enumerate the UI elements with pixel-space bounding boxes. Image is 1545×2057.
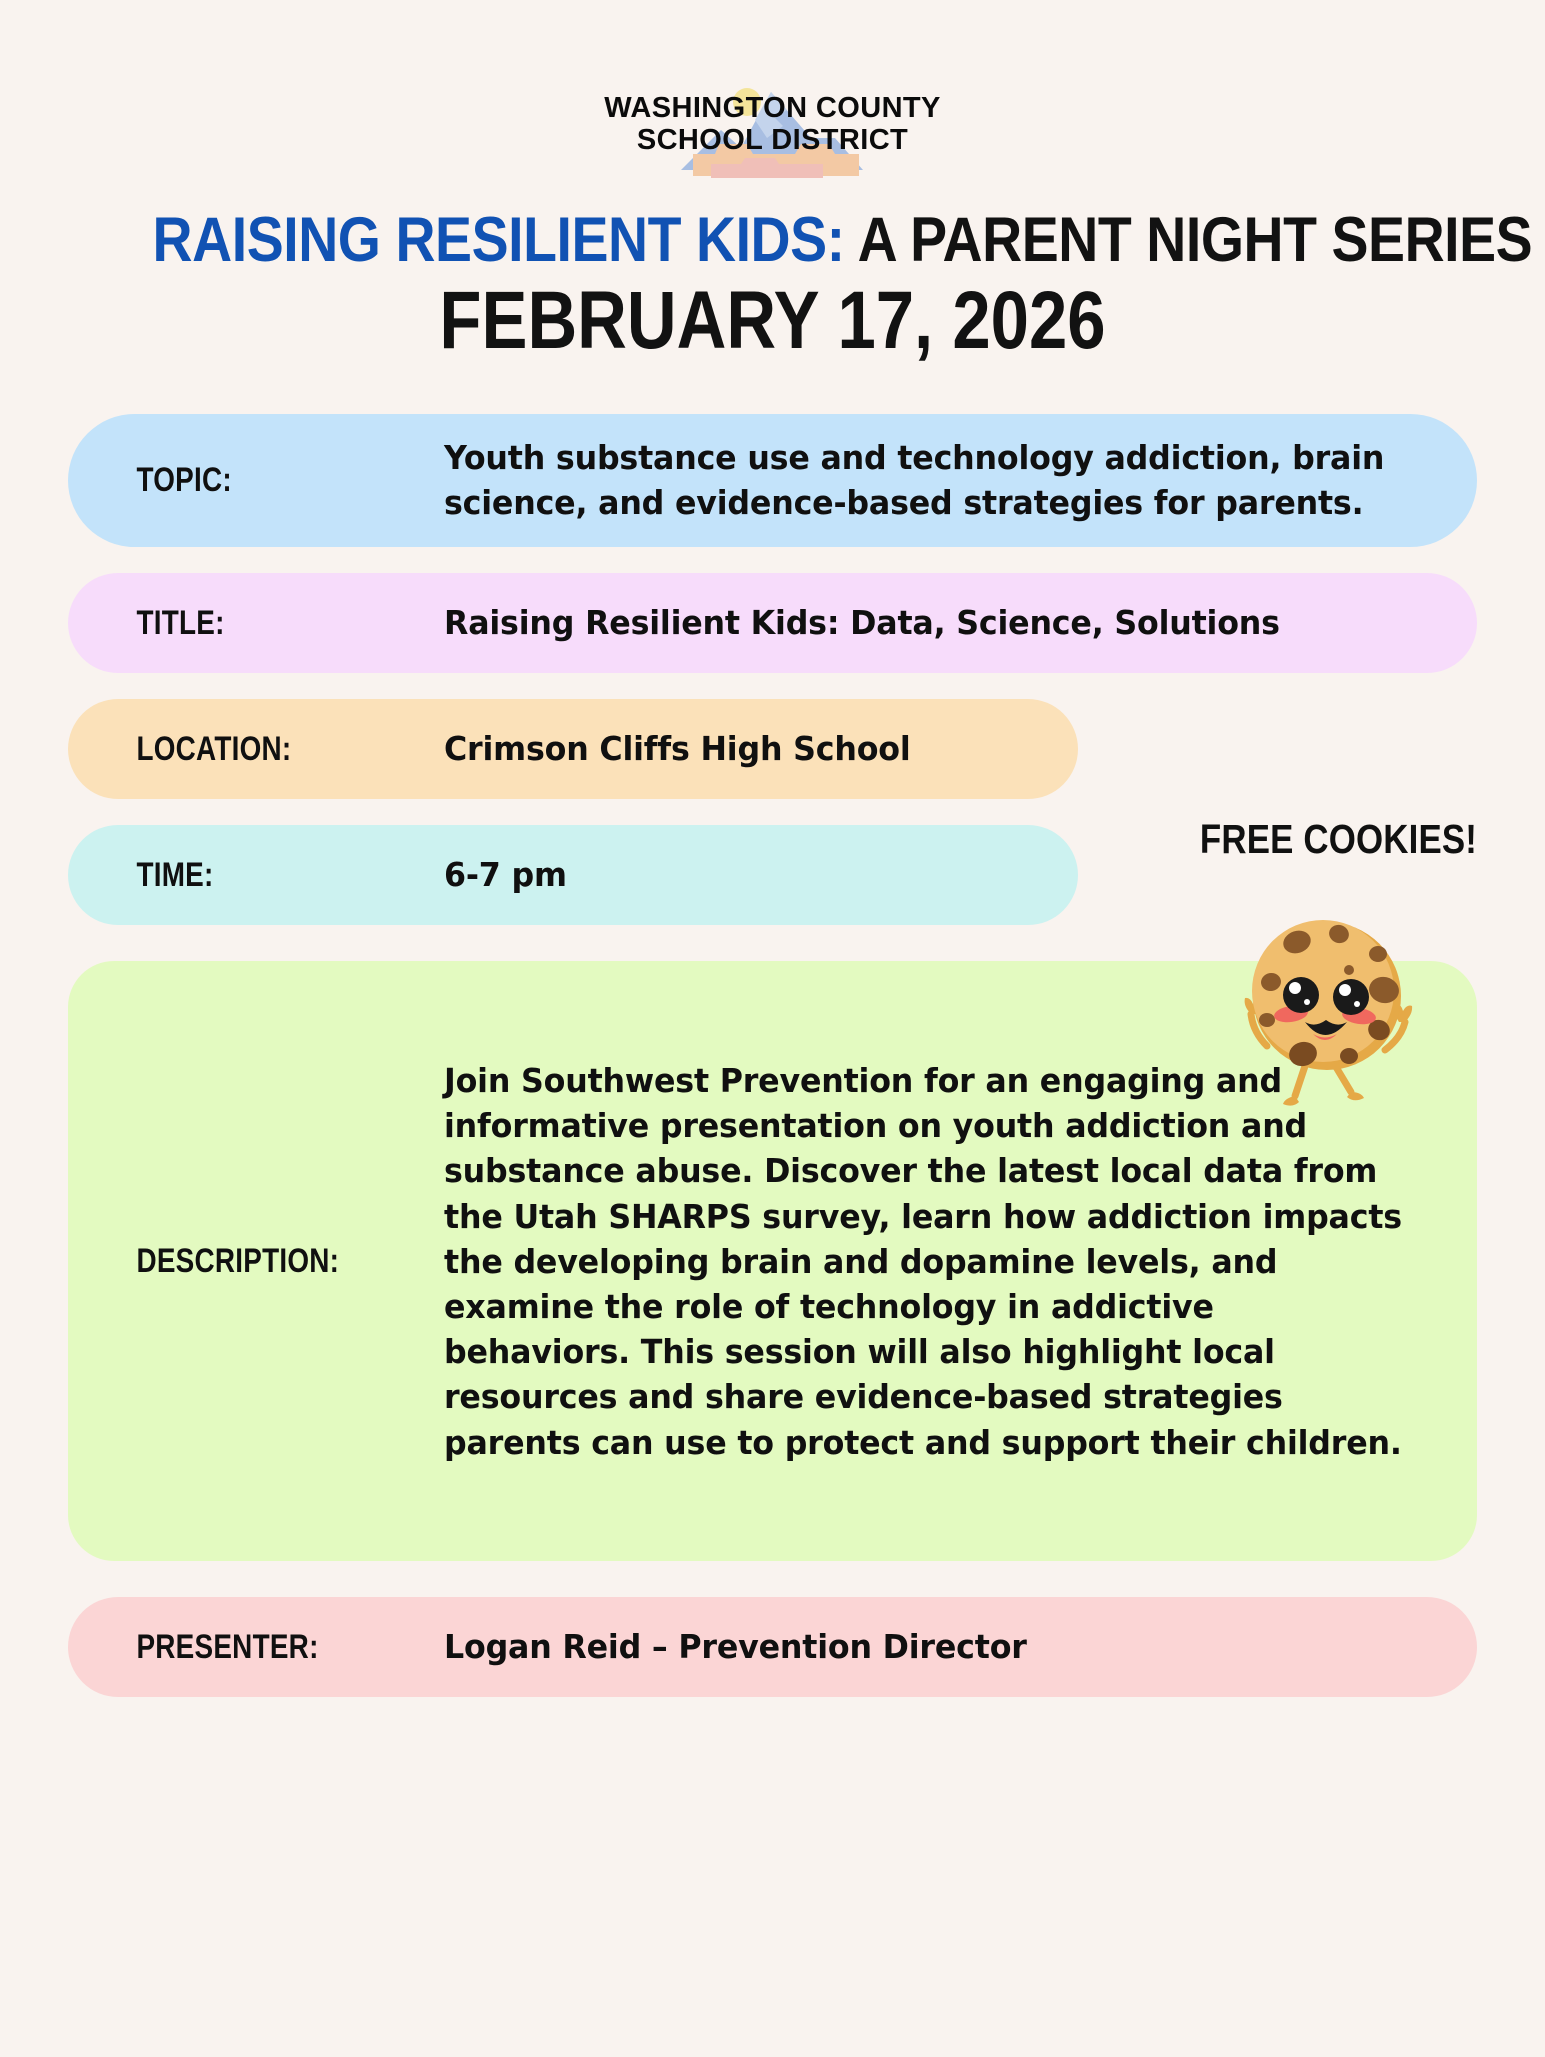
flyer-page: WASHINGTON COUNTY SCHOOL DISTRICT RAISIN… bbox=[0, 58, 1545, 2057]
row-location-label: LOCATION: bbox=[102, 730, 382, 769]
row-presenter-value: Logan Reid – Prevention Director bbox=[444, 1625, 1403, 1670]
row-time-value: 6-7 pm bbox=[444, 853, 1020, 898]
row-presenter-label: PRESENTER: bbox=[102, 1628, 382, 1667]
row-title: TITLE: Raising Resilient Kids: Data, Sci… bbox=[68, 573, 1477, 673]
row-time: TIME: 6-7 pm bbox=[68, 825, 1078, 925]
district-logo-line1: WASHINGTON COUNTY bbox=[68, 92, 1477, 124]
row-topic-value: Youth substance use and technology addic… bbox=[444, 436, 1403, 526]
page-title-highlight: RAISING RESILIENT KIDS: bbox=[153, 205, 845, 275]
row-spacer bbox=[68, 951, 1477, 961]
row-presenter: PRESENTER: Logan Reid – Prevention Direc… bbox=[68, 1597, 1477, 1697]
row-description-label: DESCRIPTION: bbox=[102, 1242, 382, 1281]
page-title: RAISING RESILIENT KIDS: A PARENT NIGHT S… bbox=[153, 210, 1393, 272]
row-time-label: TIME: bbox=[102, 856, 382, 895]
page-title-rest: A PARENT NIGHT SERIES bbox=[845, 205, 1533, 275]
row-title-value: Raising Resilient Kids: Data, Science, S… bbox=[444, 601, 1403, 646]
district-logo-text: WASHINGTON COUNTY SCHOOL DISTRICT bbox=[68, 92, 1477, 157]
row-description-value: Join Southwest Prevention for an engagin… bbox=[444, 1058, 1403, 1465]
district-logo: WASHINGTON COUNTY SCHOOL DISTRICT bbox=[68, 58, 1477, 176]
row-location: LOCATION: Crimson Cliffs High School bbox=[68, 699, 1078, 799]
row-topic: TOPIC: Youth substance use and technolog… bbox=[68, 414, 1477, 548]
row-title-label: TITLE: bbox=[102, 604, 382, 643]
district-logo-line2: SCHOOL DISTRICT bbox=[68, 124, 1477, 156]
row-spacer-2 bbox=[68, 1587, 1477, 1597]
detail-rows: TOPIC: Youth substance use and technolog… bbox=[68, 414, 1477, 1698]
row-topic-label: TOPIC: bbox=[102, 461, 382, 500]
row-description: DESCRIPTION: Join Southwest Prevention f… bbox=[68, 961, 1477, 1561]
row-location-value: Crimson Cliffs High School bbox=[444, 727, 1020, 772]
event-date: FEBRUARY 17, 2026 bbox=[181, 280, 1365, 362]
